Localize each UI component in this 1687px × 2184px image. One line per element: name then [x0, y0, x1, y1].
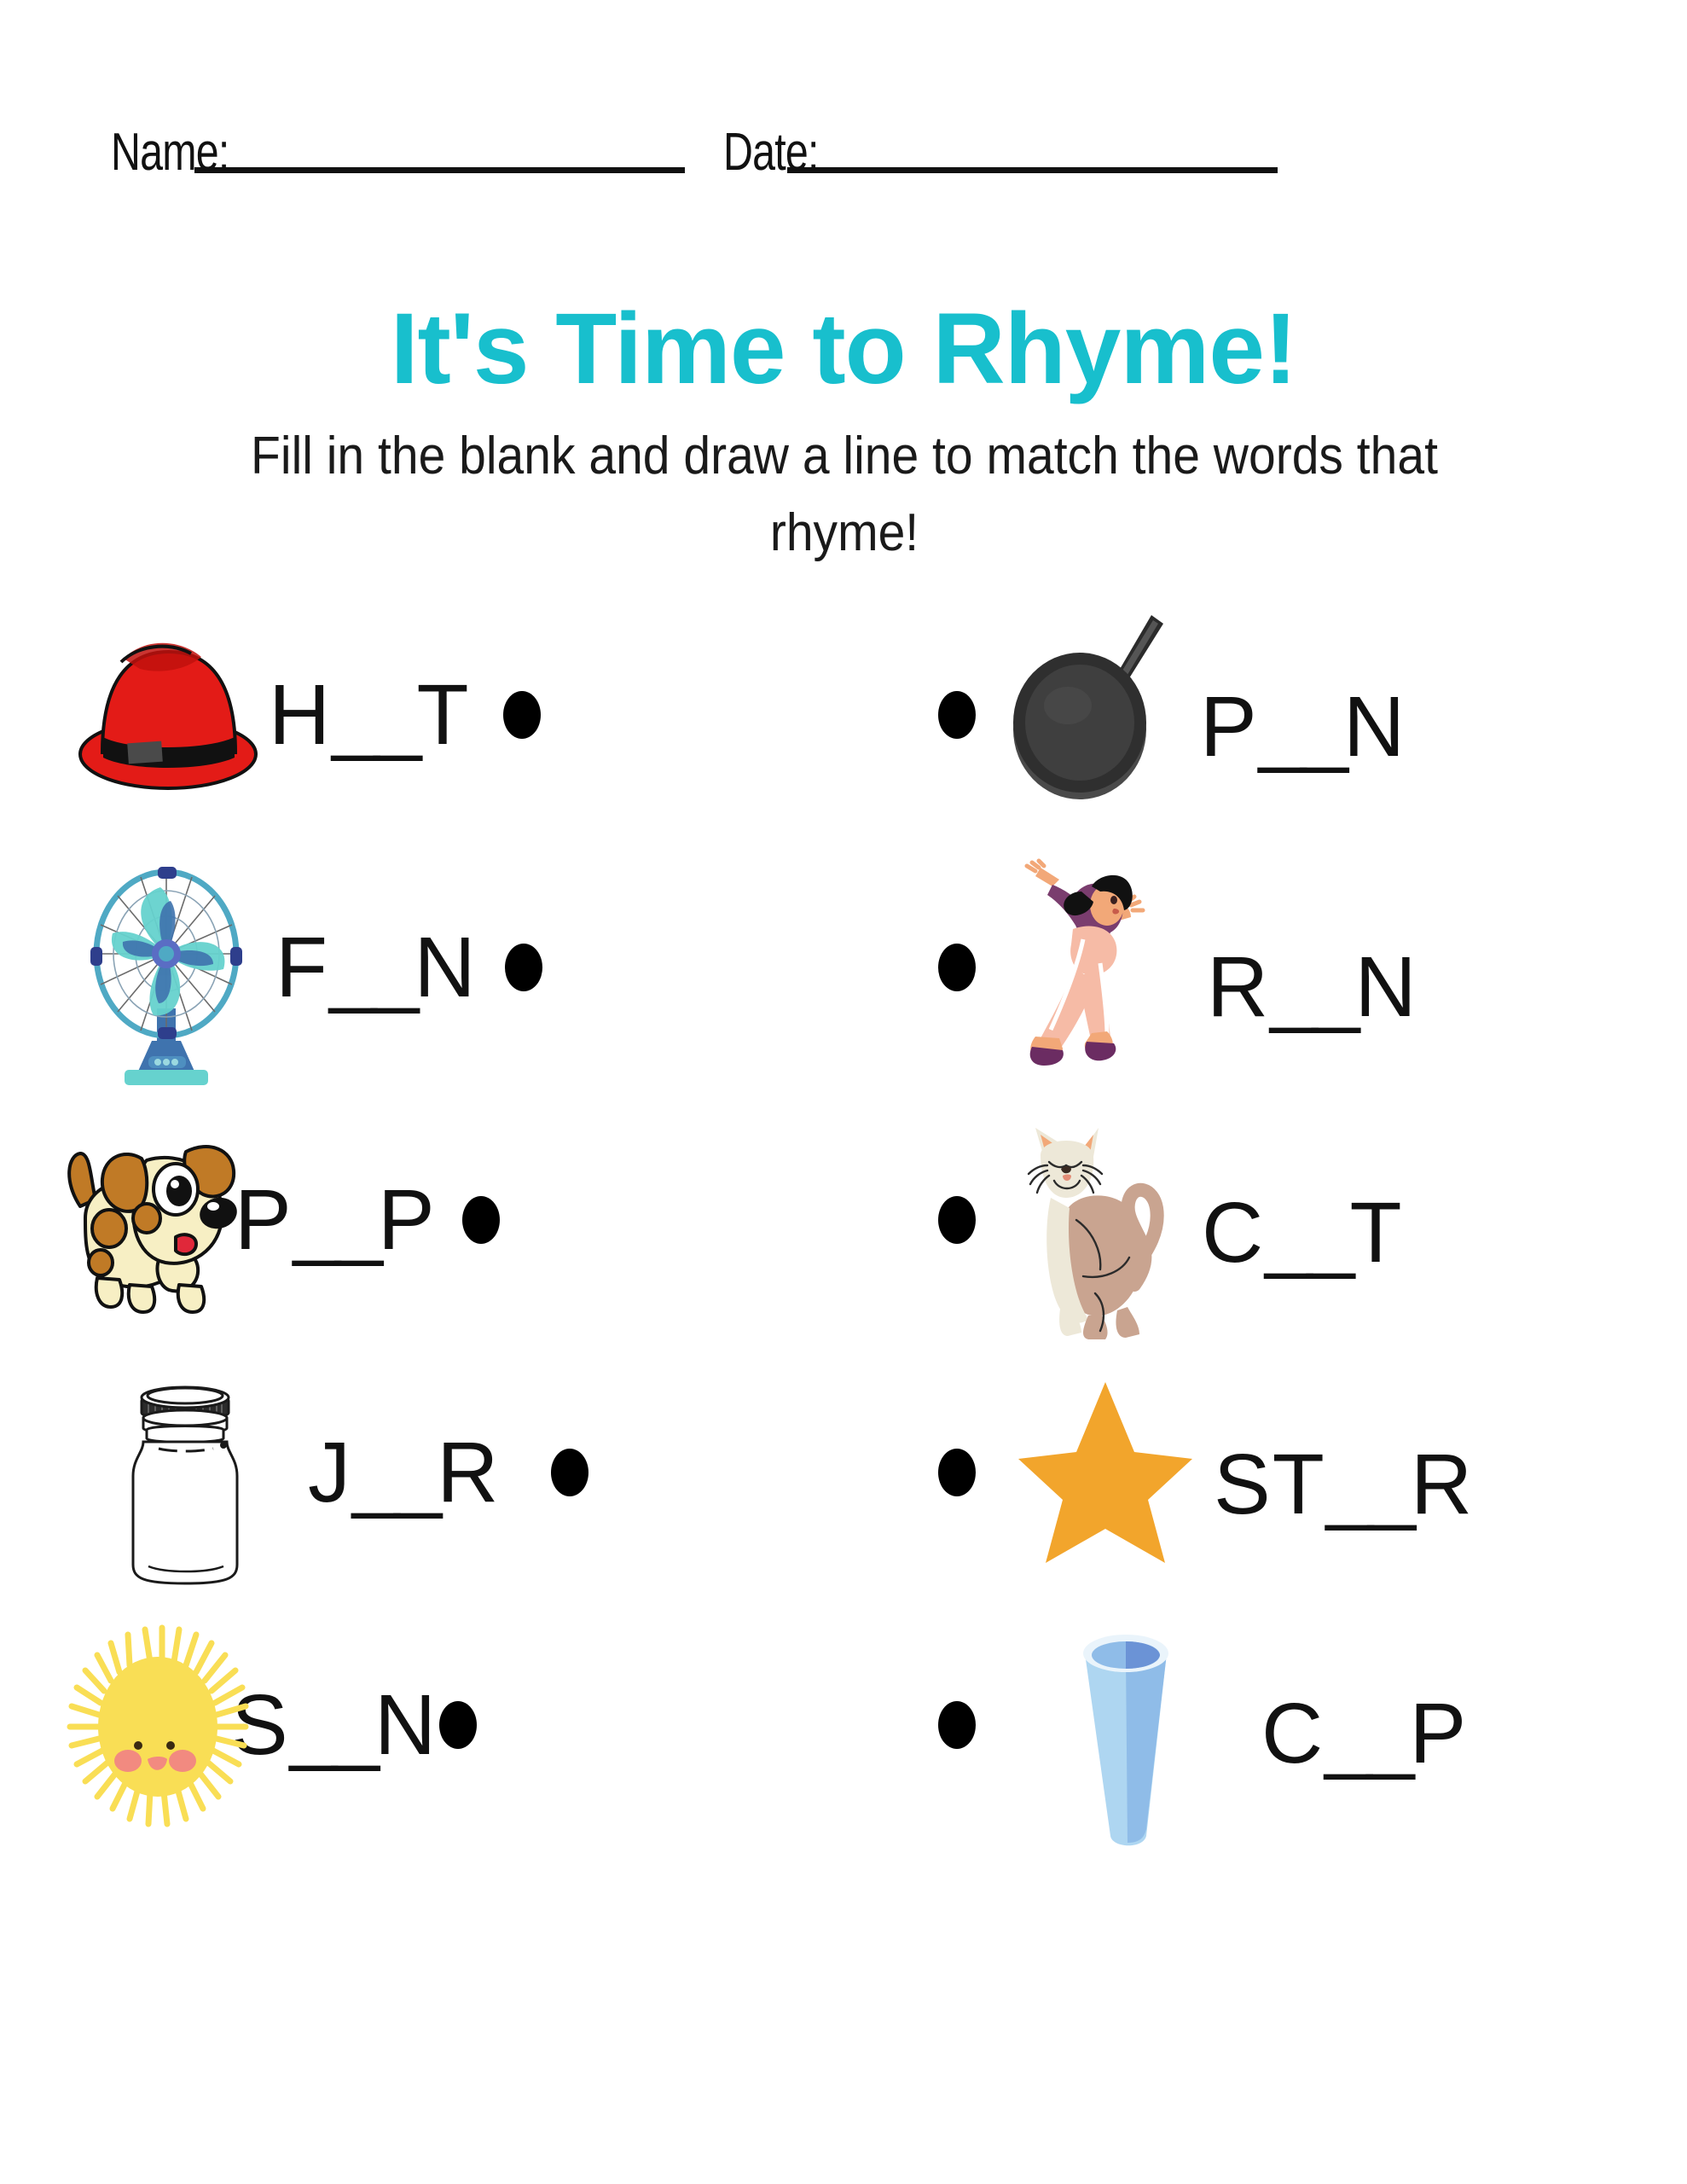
worksheet-row: F__N — [0, 841, 1687, 1094]
runner-icon — [1010, 861, 1193, 1066]
row-right-item: C__T — [904, 1094, 1672, 1346]
sun-icon — [60, 1623, 243, 1827]
name-date-header: Name: Date: — [111, 128, 1578, 178]
worksheet-row: H__T P__N — [0, 589, 1687, 841]
word-label: P__N — [1200, 684, 1406, 770]
match-dot-left[interactable] — [503, 691, 541, 739]
name-label: Name: — [111, 128, 229, 178]
word-label: P__P — [235, 1177, 437, 1263]
page-subtitle: Fill in the blank and draw a line to mat… — [193, 418, 1495, 572]
date-input-rule[interactable] — [787, 167, 1278, 173]
puppy-icon — [51, 1118, 235, 1322]
match-dot-left[interactable] — [439, 1701, 477, 1749]
hat-icon — [77, 613, 260, 817]
worksheet-row: J__R ST__R — [0, 1346, 1687, 1599]
match-dot-right[interactable] — [938, 944, 976, 991]
word-label: H__T — [269, 672, 471, 758]
jar-icon — [94, 1370, 277, 1575]
word-label: ST__R — [1214, 1442, 1474, 1527]
row-left-item: H__T — [51, 589, 802, 841]
match-dot-right[interactable] — [938, 1449, 976, 1496]
star-icon — [1013, 1370, 1197, 1575]
name-input-rule[interactable] — [194, 167, 685, 173]
match-dot-right[interactable] — [938, 691, 976, 739]
row-right-item: C__P — [904, 1599, 1672, 1851]
worksheet-row: P__P — [0, 1094, 1687, 1346]
word-label: F__N — [275, 925, 478, 1010]
match-dot-left[interactable] — [505, 944, 542, 991]
match-dot-right[interactable] — [938, 1701, 976, 1749]
cat-icon — [1010, 1118, 1193, 1322]
pan-icon — [1001, 603, 1185, 808]
word-label: J__R — [308, 1430, 500, 1515]
fan-icon — [77, 865, 260, 1070]
page-title: It's Time to Rhyme! — [0, 299, 1687, 399]
cup-icon — [1035, 1623, 1219, 1827]
row-right-item: ST__R — [904, 1346, 1672, 1599]
word-label: R__N — [1207, 944, 1418, 1030]
match-dot-left[interactable] — [551, 1449, 588, 1496]
match-dot-right[interactable] — [938, 1196, 976, 1244]
row-left-item: J__R — [51, 1346, 802, 1599]
row-right-item: R__N — [904, 841, 1672, 1094]
row-left-item: S__N — [51, 1599, 802, 1851]
row-right-item: P__N — [904, 589, 1672, 841]
match-dot-left[interactable] — [462, 1196, 500, 1244]
word-label: C__T — [1202, 1190, 1404, 1275]
row-left-item: F__N — [51, 841, 802, 1094]
word-label: C__P — [1261, 1691, 1468, 1776]
worksheet-grid: H__T P__N — [0, 589, 1687, 1851]
row-left-item: P__P — [51, 1094, 802, 1346]
date-block: Date: — [723, 128, 1278, 178]
worksheet-row: S__N C__P — [0, 1599, 1687, 1851]
date-label: Date: — [723, 128, 819, 178]
